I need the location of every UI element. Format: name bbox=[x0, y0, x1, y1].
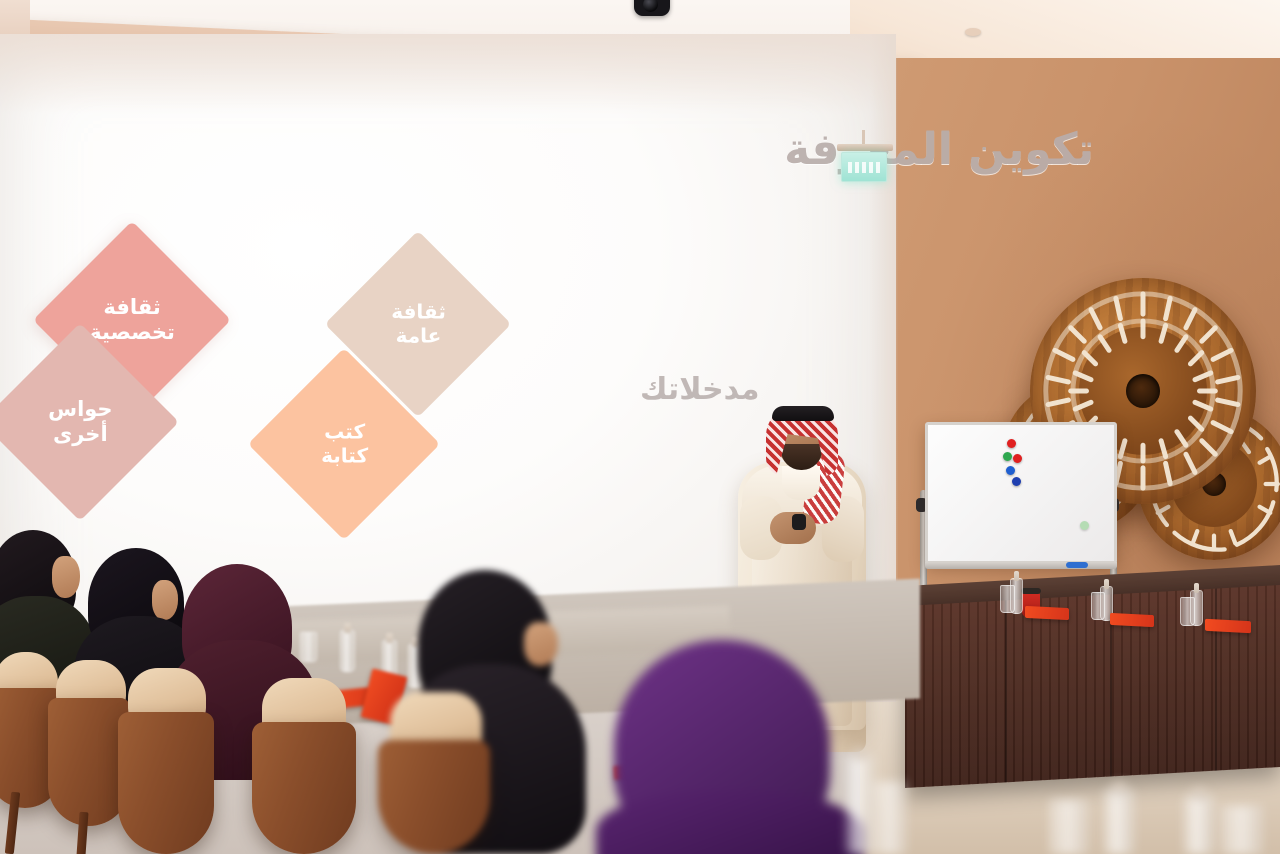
water-bottle-fg-1 bbox=[846, 756, 874, 854]
water-bottle-5 bbox=[340, 630, 355, 672]
ceiling-sensor-icon bbox=[965, 28, 981, 36]
water-bottle-fg-2 bbox=[1104, 790, 1134, 854]
attendee-1-face bbox=[52, 556, 80, 598]
card-line-2: أخرى bbox=[53, 422, 108, 446]
card-line-1: ثقافة bbox=[103, 295, 160, 319]
slide-subtitle: مدخلاتك bbox=[640, 372, 760, 407]
chair-3 bbox=[118, 712, 214, 854]
card-line-1: حواس bbox=[48, 397, 112, 421]
drinking-glass-fg-2 bbox=[1050, 800, 1088, 854]
presenter-collar bbox=[782, 466, 820, 500]
whiteboard-tray bbox=[925, 562, 1117, 569]
presenter-igal bbox=[772, 406, 834, 421]
emergency-exit-sign-icon bbox=[841, 152, 887, 182]
card-line-1: ثقافة bbox=[391, 299, 446, 323]
magnet-red-1[interactable] bbox=[1007, 439, 1016, 448]
magnet-blue-1[interactable] bbox=[1006, 466, 1015, 475]
water-bottle-1 bbox=[1010, 578, 1023, 614]
slide-title: تكوين المعرفة bbox=[784, 124, 1094, 175]
magnet-blue-2[interactable] bbox=[1012, 477, 1021, 486]
drinking-glass-fg-3 bbox=[1222, 806, 1262, 854]
water-bottle-fg-3 bbox=[1184, 796, 1214, 854]
attendee-2-face bbox=[152, 580, 178, 620]
whiteboard-marker[interactable] bbox=[1066, 562, 1088, 568]
red-notebook-2 bbox=[1110, 613, 1154, 627]
red-notebook-1 bbox=[1025, 606, 1069, 620]
attendee-4-hand bbox=[524, 622, 558, 666]
ceiling-camera-icon bbox=[634, 0, 670, 16]
drinking-glass-fg-1 bbox=[874, 782, 906, 854]
card-line-2: تخصصية bbox=[89, 320, 175, 344]
exit-sign-bracket bbox=[837, 144, 893, 151]
photo-scene: تكوين المعرفة مدخلاتك ثقافة تخصصية حواس … bbox=[0, 0, 1280, 854]
chair-5 bbox=[378, 740, 490, 854]
water-bottle-3 bbox=[1190, 590, 1203, 626]
screen-top-shade bbox=[0, 34, 896, 114]
drinking-glass-4 bbox=[300, 632, 317, 662]
presentation-clicker bbox=[792, 514, 806, 530]
card-line-2: عامة bbox=[395, 323, 441, 347]
red-notebook-3 bbox=[1205, 619, 1251, 633]
magnet-green[interactable] bbox=[1003, 452, 1012, 461]
card-line-1: كتب bbox=[324, 419, 365, 443]
whiteboard[interactable] bbox=[925, 422, 1117, 564]
magnet-green-small[interactable] bbox=[1080, 521, 1089, 530]
magnet-red-2[interactable] bbox=[1013, 454, 1022, 463]
card-line-2: كتابة bbox=[321, 443, 368, 467]
chair-4 bbox=[252, 722, 356, 854]
